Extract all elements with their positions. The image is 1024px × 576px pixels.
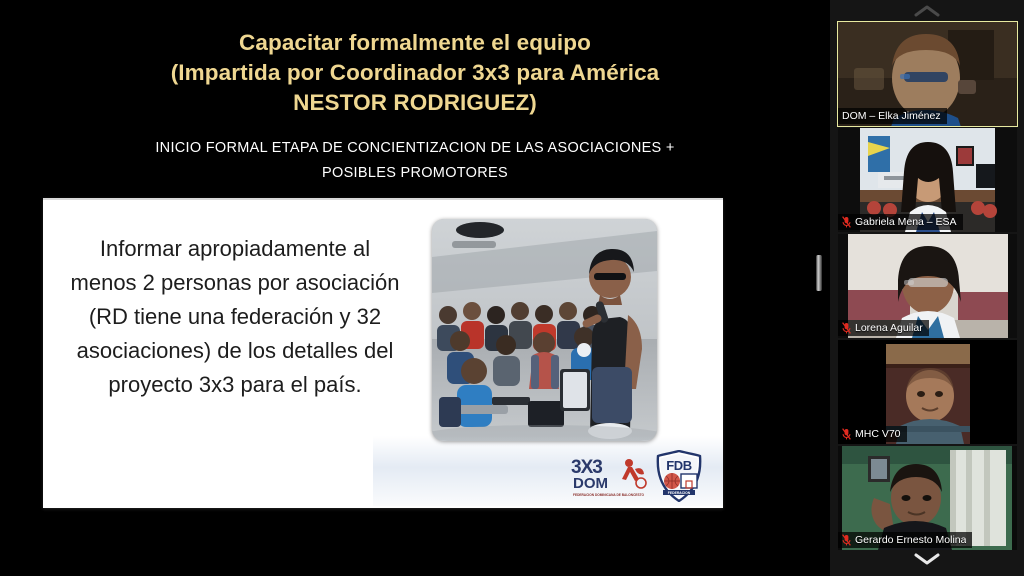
participant-tile[interactable]: MHC V70 [838, 340, 1017, 444]
participant-tile[interactable]: Gerardo Ernesto Molina [838, 446, 1017, 550]
shared-screen-area[interactable]: Capacitar formalmente el equipo (Imparti… [0, 0, 830, 576]
3x3-dom-logo-icon: 3X3 DOM FEDERACION DOMINICANA DE BALONCE… [571, 454, 649, 498]
chevron-up-icon[interactable] [830, 0, 1024, 22]
slide-subtitle-line-2: POSIBLES PROMOTORES [0, 161, 830, 186]
participant-tile[interactable]: Gabriela Mena – ESA [838, 128, 1017, 232]
participant-name: Gerardo Ernesto Molina [855, 532, 966, 548]
svg-text:DOM: DOM [573, 475, 608, 492]
participant-name: MHC V70 [855, 426, 901, 442]
participant-filmstrip: DOM – Elka Jiménez [830, 0, 1024, 576]
fdb-shield-logo-icon: FDB FEDERACION [653, 450, 705, 502]
slide-content-card: Informar apropiadamente al menos 2 perso… [43, 198, 723, 508]
participant-tile[interactable]: DOM – Elka Jiménez [838, 22, 1017, 126]
slide-body-text: Informar apropiadamente al menos 2 perso… [65, 232, 405, 402]
logo-group: 3X3 DOM FEDERACION DOMINICANA DE BALONCE… [571, 450, 711, 502]
slide-title-line-1: Capacitar formalmente el equipo [0, 28, 830, 58]
svg-text:FEDERACION DOMINICANA DE BALON: FEDERACION DOMINICANA DE BALONCESTO [573, 493, 645, 497]
chevron-down-icon[interactable] [830, 548, 1024, 570]
panel-resize-handle[interactable] [816, 255, 822, 291]
svg-text:FDB: FDB [666, 458, 692, 473]
participant-namebar: DOM – Elka Jiménez [838, 108, 947, 124]
slide-subtitle-line-1: INICIO FORMAL ETAPA DE CONCIENTIZACION D… [0, 136, 830, 161]
participant-name: Lorena Aguilar [855, 320, 923, 336]
participant-name: Gabriela Mena – ESA [855, 214, 957, 230]
participant-namebar: MHC V70 [838, 426, 907, 442]
svg-text:FEDERACION: FEDERACION [668, 491, 691, 495]
slide-title-line-2: (Impartida por Coordinador 3x3 para Amér… [0, 58, 830, 88]
participant-namebar: Lorena Aguilar [838, 320, 929, 336]
training-session-photo [432, 219, 657, 441]
meeting-window: Capacitar formalmente el equipo (Imparti… [0, 0, 1024, 576]
participant-namebar: Gabriela Mena – ESA [838, 214, 963, 230]
participant-name: DOM – Elka Jiménez [842, 108, 941, 124]
participant-tile[interactable]: Lorena Aguilar [838, 234, 1017, 338]
mic-muted-icon [842, 534, 851, 546]
mic-muted-icon [842, 428, 851, 440]
mic-muted-icon [842, 216, 851, 228]
mic-muted-icon [842, 322, 851, 334]
slide-title-line-3: NESTOR RODRIGUEZ) [0, 88, 830, 118]
slide-subtitle: INICIO FORMAL ETAPA DE CONCIENTIZACION D… [0, 136, 830, 186]
slide-title: Capacitar formalmente el equipo (Imparti… [0, 28, 830, 118]
participant-namebar: Gerardo Ernesto Molina [838, 532, 972, 548]
